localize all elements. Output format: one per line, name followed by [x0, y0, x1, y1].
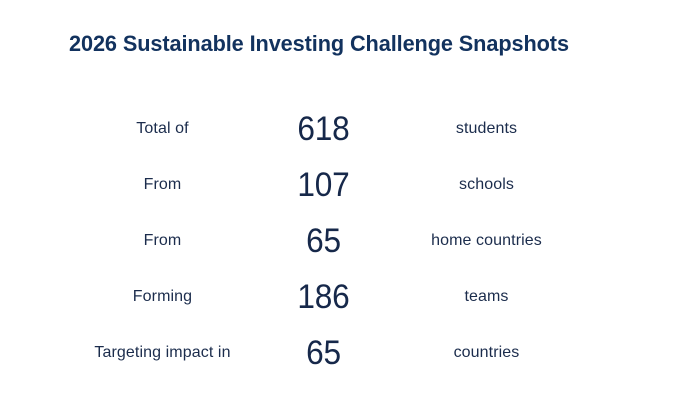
snapshot-infographic: 2026 Sustainable Investing Challenge Sna… — [0, 0, 694, 413]
stat-label: Total of — [0, 119, 247, 139]
stat-unit: home countries — [400, 231, 694, 251]
stat-value: 618 — [252, 110, 394, 148]
stat-value: 107 — [252, 166, 394, 204]
table-row: From 65 home countries — [0, 213, 694, 269]
stat-label: Targeting impact in — [0, 343, 247, 363]
stat-unit: teams — [400, 287, 694, 307]
stat-unit: students — [400, 119, 694, 139]
stat-unit: countries — [400, 343, 694, 363]
page-title: 2026 Sustainable Investing Challenge Sna… — [69, 29, 609, 59]
stats-table: Total of 618 students From 107 schools F… — [0, 101, 694, 381]
stat-value: 65 — [252, 222, 394, 260]
stat-label: Forming — [0, 287, 247, 307]
table-row: Total of 618 students — [0, 101, 694, 157]
table-row: Targeting impact in 65 countries — [0, 325, 694, 381]
stat-label: From — [0, 175, 247, 195]
stat-unit: schools — [400, 175, 694, 195]
stat-value: 186 — [252, 278, 394, 316]
stat-value: 65 — [252, 334, 394, 372]
table-row: From 107 schools — [0, 157, 694, 213]
stat-label: From — [0, 231, 247, 251]
table-row: Forming 186 teams — [0, 269, 694, 325]
